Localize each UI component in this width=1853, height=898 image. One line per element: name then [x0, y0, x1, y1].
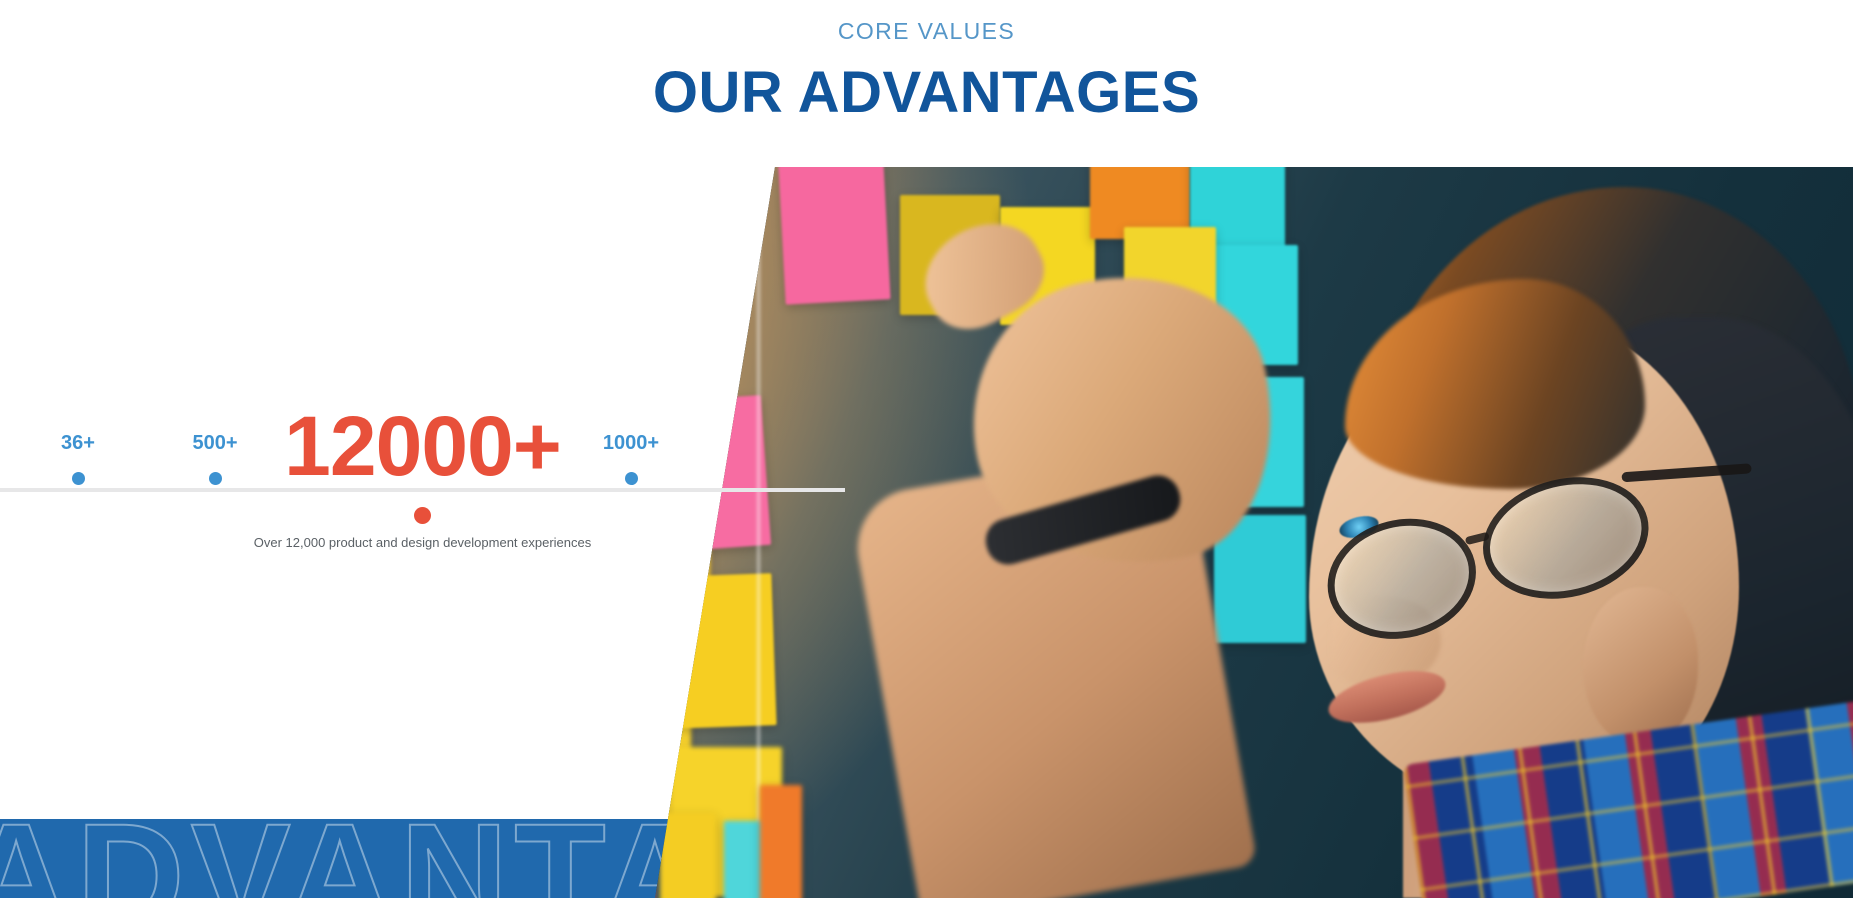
stat-marker-dot: [625, 472, 638, 485]
sticky-note: [348, 207, 468, 332]
stat-item-1000[interactable]: 1000+: [598, 432, 664, 485]
stat-value: 500+: [184, 432, 246, 455]
stat-item-500[interactable]: 500+: [184, 432, 246, 485]
stat-value: 1000+: [598, 432, 664, 455]
sticky-note: [18, 197, 168, 337]
section-header: CORE VALUES OUR ADVANTAGES: [0, 0, 1853, 126]
stat-item-36[interactable]: 36+: [48, 432, 108, 485]
sticky-note: [592, 497, 710, 642]
sticky-note: [660, 813, 716, 898]
person-photo-subject: [1113, 167, 1853, 898]
featured-marker-dot: [414, 507, 431, 524]
sticky-note: [760, 785, 802, 898]
stat-item-featured[interactable]: 12000+ Over 12,000 product and design de…: [250, 408, 595, 552]
page-title: OUR ADVANTAGES: [0, 60, 1853, 127]
featured-stat-value: 12000+: [250, 408, 595, 485]
ear: [1583, 587, 1698, 747]
stat-marker-dot: [72, 472, 85, 485]
sticky-note: [24, 527, 169, 677]
sticky-note: [432, 667, 567, 817]
stat-value: 36+: [48, 432, 108, 455]
section-eyebrow: CORE VALUES: [0, 18, 1853, 46]
sticky-note: [172, 177, 307, 302]
featured-stat-caption: Over 12,000 product and design developme…: [250, 535, 595, 552]
sticky-note: [452, 187, 577, 307]
stat-marker-dot: [209, 472, 222, 485]
sticky-note: [586, 177, 701, 312]
advantages-section: CORE VALUES OUR ADVANTAGES: [0, 0, 1853, 898]
sticky-note: [778, 167, 890, 305]
